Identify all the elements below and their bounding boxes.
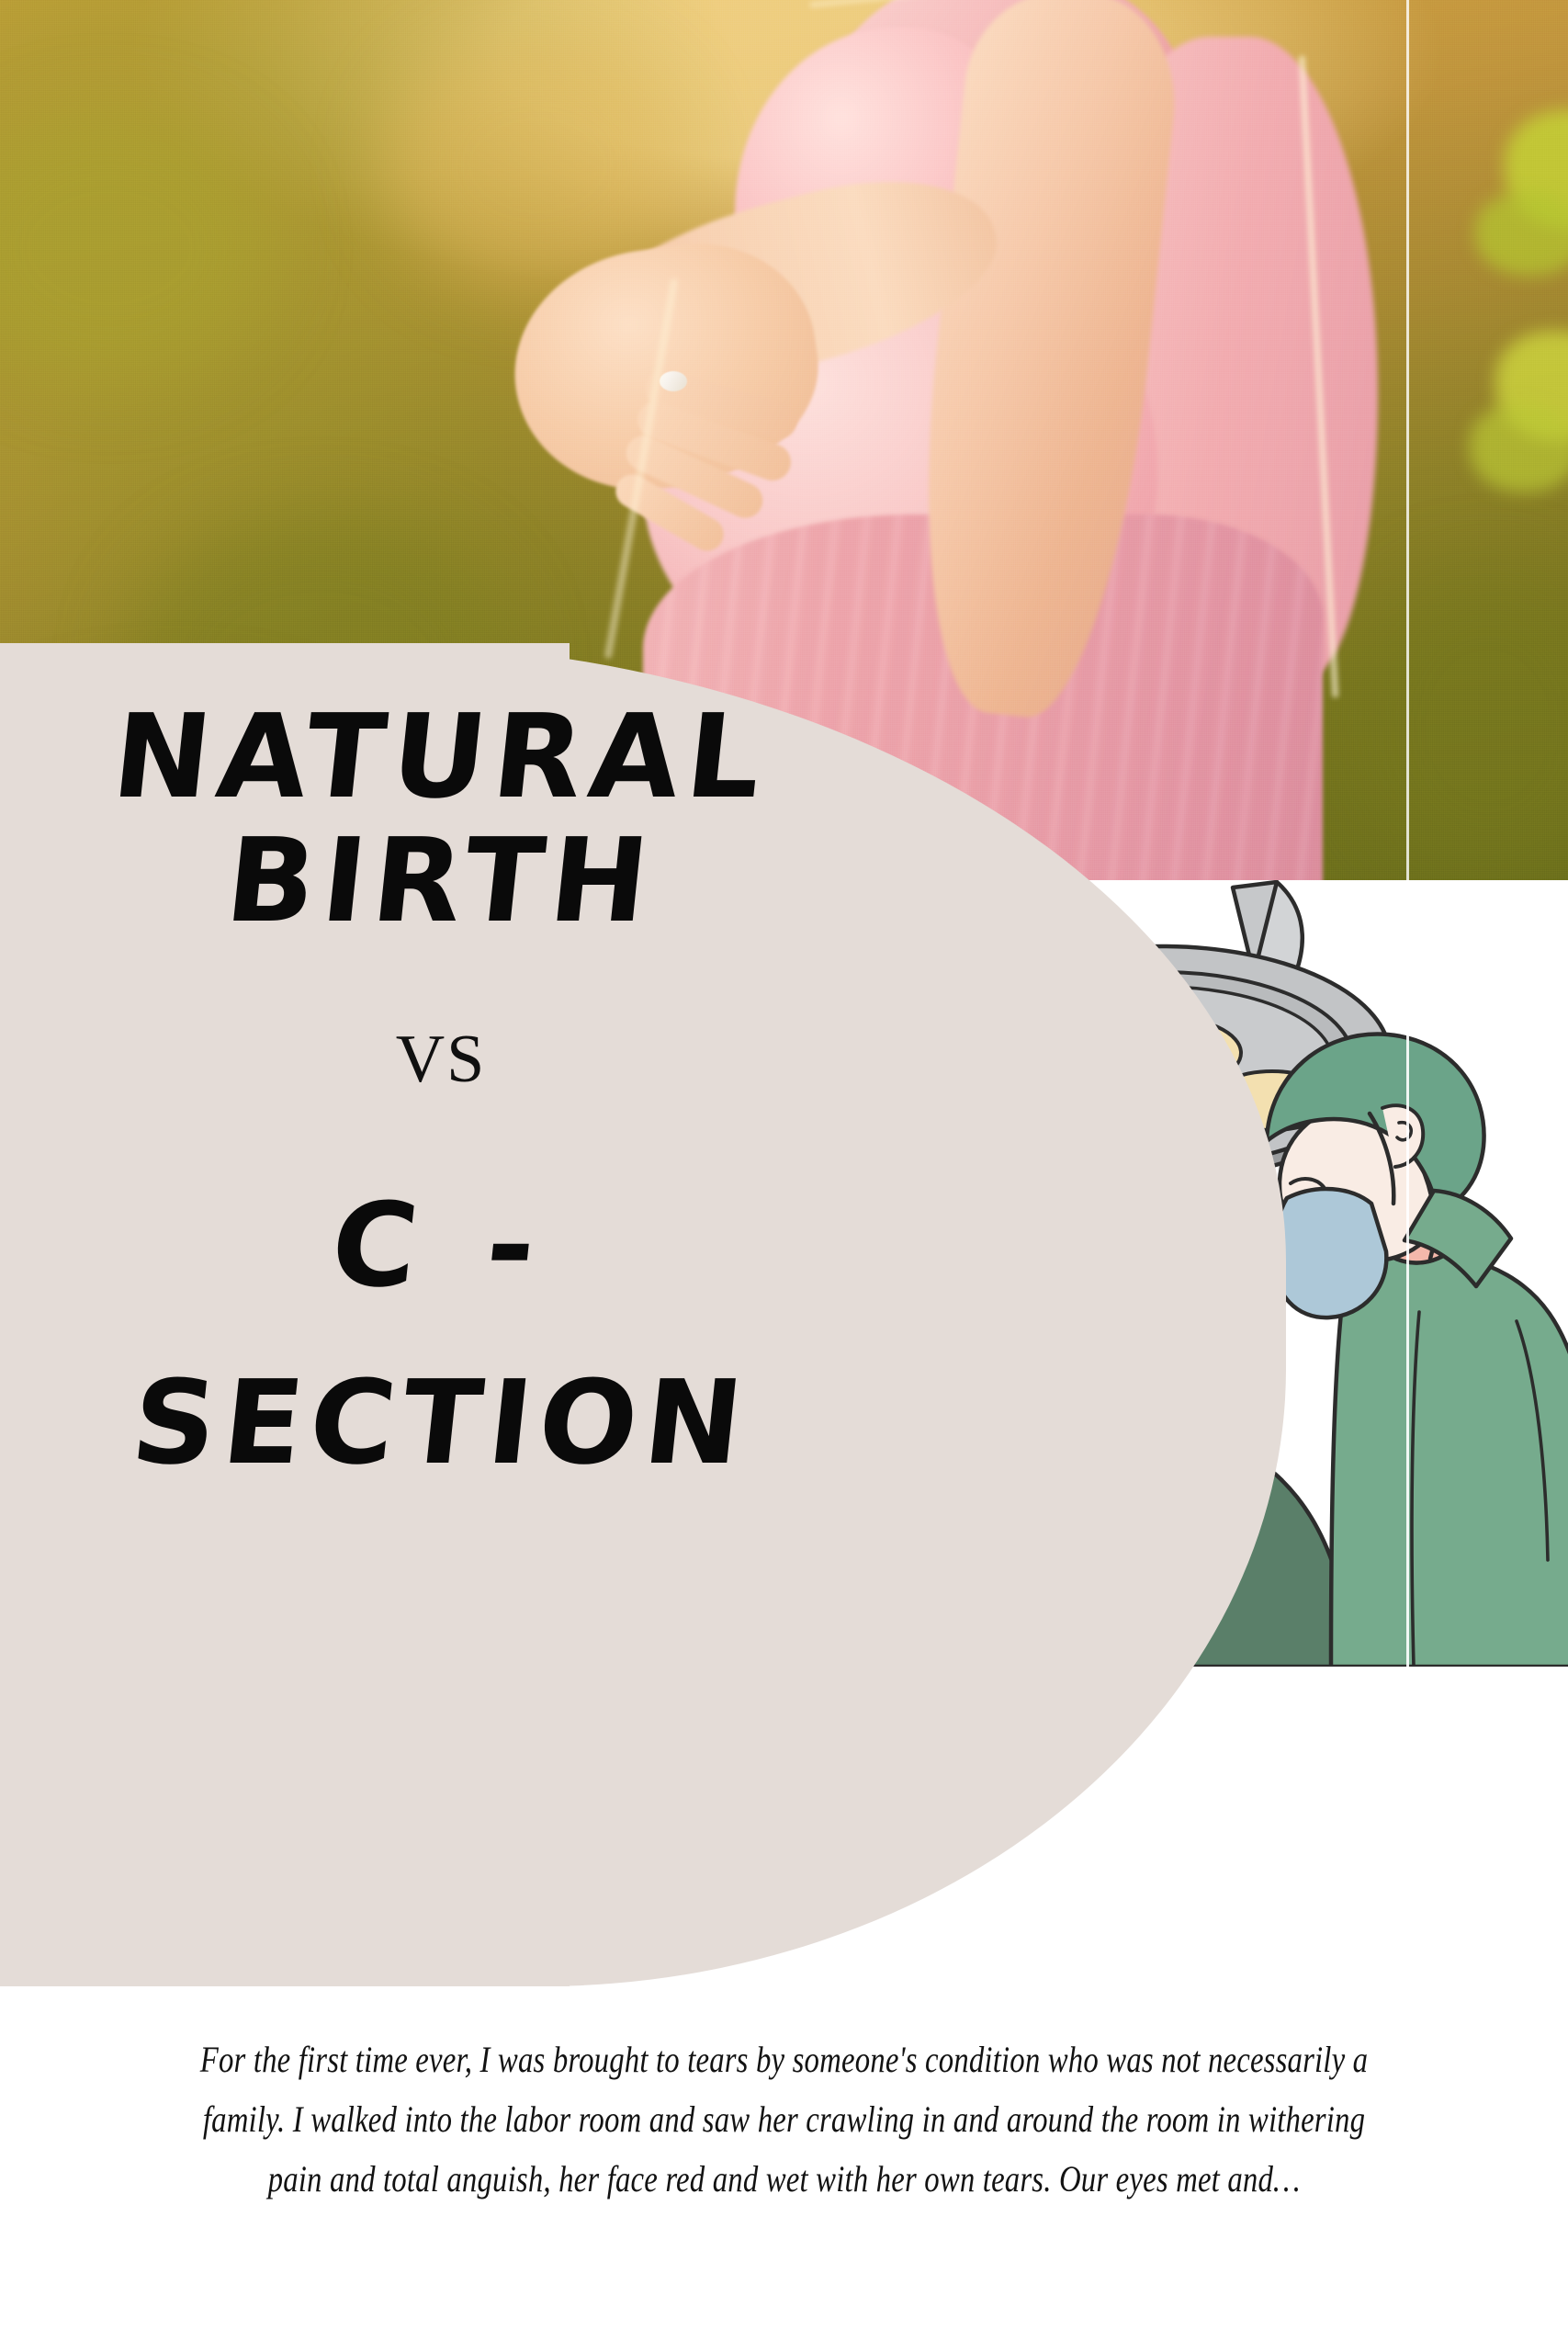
headline-block: NATURAL BIRTH VS C - SECTION — [0, 698, 882, 1482]
headline-c: C - — [0, 1187, 888, 1306]
collage-seam — [1406, 880, 1409, 1667]
quote-text: For the first time ever, I was brought t… — [196, 2030, 1373, 2209]
headline-versus: VS — [0, 1021, 882, 1099]
headline-birth: BIRTH — [0, 822, 888, 941]
headline-section: SECTION — [0, 1364, 888, 1483]
collage-seam — [1406, 0, 1409, 880]
poster-canvas: NATURAL BIRTH VS C - SECTION For the fir… — [0, 0, 1568, 2352]
headline-natural: NATURAL — [0, 698, 888, 817]
